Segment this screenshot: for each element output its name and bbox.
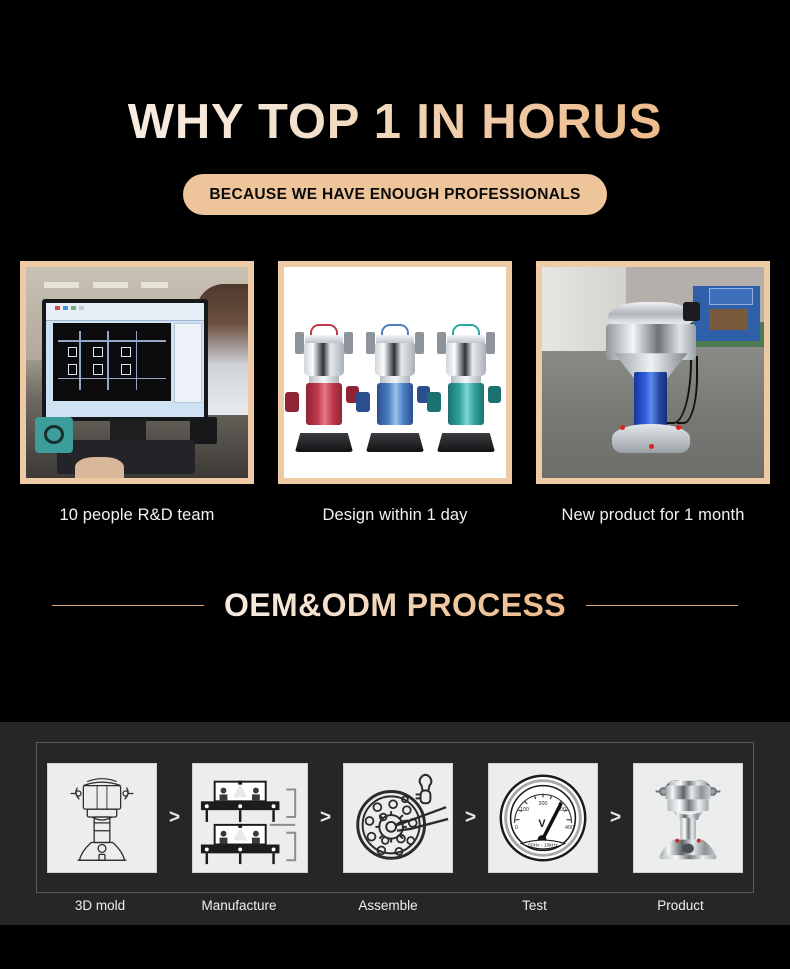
process-label-manufacture: Manufacture	[164, 898, 314, 913]
process-section: >	[0, 722, 790, 925]
process-label-test: Test	[462, 898, 607, 913]
photo-frame	[20, 261, 254, 484]
photo-frame	[278, 261, 512, 484]
feature-card: New product for 1 month	[536, 261, 770, 525]
process-step-assemble	[343, 763, 453, 873]
gauge-unit-label: V	[538, 817, 546, 829]
step-separator-arrow: >	[598, 808, 633, 827]
feature-card-label: New product for 1 month	[536, 506, 770, 525]
assembly-line-icon	[193, 764, 307, 872]
section-title: OEM&ODM PROCESS	[224, 587, 566, 624]
feature-card-label: 10 people R&D team	[20, 506, 254, 525]
photo-frame	[536, 261, 770, 484]
feature-card-list: 10 people R&D team	[0, 261, 790, 525]
process-step-manufacture	[192, 763, 308, 873]
grinder-wireframe-icon	[48, 764, 156, 872]
divider-right	[586, 605, 738, 606]
divider-left	[52, 605, 204, 606]
step-separator-arrow: >	[308, 808, 343, 827]
cad-workstation-photo	[26, 267, 248, 478]
headline-section: WHY TOP 1 IN HORUS	[0, 0, 790, 147]
promo-page: WHY TOP 1 IN HORUS BECAUSE WE HAVE ENOUG…	[0, 0, 790, 969]
status-badge: BECAUSE WE HAVE ENOUGH PROFESSIONALS	[183, 174, 606, 215]
step-separator-arrow: >	[157, 808, 192, 827]
feature-card-label: Design within 1 day	[278, 506, 512, 525]
teal-device-icon	[35, 417, 73, 453]
step-separator-arrow: >	[453, 808, 488, 827]
process-step-product	[633, 763, 743, 873]
process-step-test: 0 100 200 300 400 V 50Hz - 10kHz	[488, 763, 598, 873]
gauge-tick-400: 400	[565, 824, 574, 830]
process-label-3d-mold: 3D mold	[36, 898, 164, 913]
gauge-tick-100: 100	[520, 807, 529, 813]
page-title: WHY TOP 1 IN HORUS	[128, 98, 662, 147]
process-step-3d-mold	[47, 763, 157, 873]
feature-card: 10 people R&D team	[20, 261, 254, 525]
process-labels-row: 3D mold Manufacture Assemble Test Produc…	[36, 898, 754, 913]
chrome-grinder-icon	[634, 764, 742, 872]
process-title-row: OEM&ODM PROCESS	[0, 587, 790, 624]
gauge-tick-200: 200	[539, 801, 548, 807]
voltmeter-gauge-icon: 0 100 200 300 400 V 50Hz - 10kHz	[489, 764, 597, 872]
factory-sifter-photo	[542, 267, 764, 478]
process-label-product: Product	[607, 898, 754, 913]
three-color-grinders-photo	[284, 267, 506, 478]
feature-card: Design within 1 day	[278, 261, 512, 525]
process-steps-container: >	[36, 742, 754, 893]
sieve-gear-wrench-icon	[344, 764, 452, 872]
process-label-assemble: Assemble	[314, 898, 462, 913]
badge-section: BECAUSE WE HAVE ENOUGH PROFESSIONALS	[0, 174, 790, 215]
gauge-range-label: 50Hz - 10kHz	[528, 842, 558, 848]
gauge-tick-0: 0	[515, 824, 518, 830]
